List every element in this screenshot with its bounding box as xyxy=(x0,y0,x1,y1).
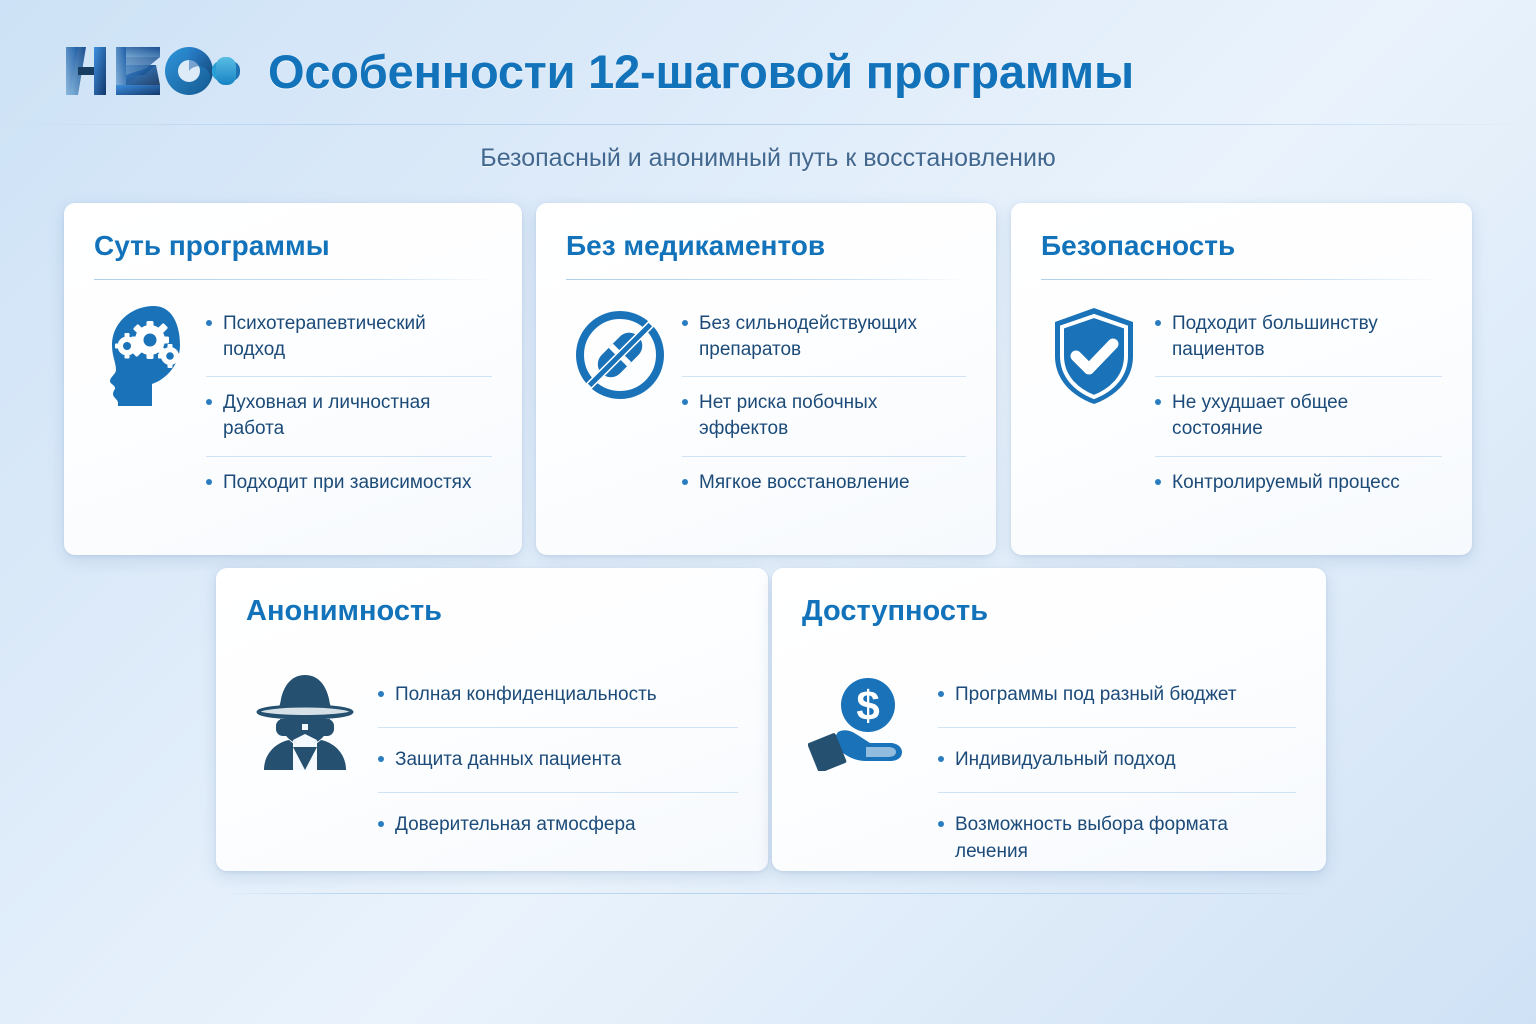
bullet-dot-icon xyxy=(682,320,688,326)
svg-text:$: $ xyxy=(856,682,879,729)
bullet-dot-icon xyxy=(378,756,384,762)
bullet-item: Контролируемый процесс xyxy=(1155,457,1442,509)
bullet-item: Без сильнодействующих препаратов xyxy=(682,298,966,377)
bullet-item: Нет риска побочных эффектов xyxy=(682,377,966,456)
card-body: $ Программы под разный бюджет Индивидуал… xyxy=(802,663,1296,884)
bullet-item: Подходит большинству пациентов xyxy=(1155,298,1442,377)
feature-card-safety[interactable]: Безопасность Подходит большинству пациен… xyxy=(1011,203,1472,555)
bullet-text: Без сильнодействующих препаратов xyxy=(699,311,966,363)
bullet-text: Возможность выбора формата лечения xyxy=(955,812,1296,864)
card-body: Без сильнодействующих препаратов Нет рис… xyxy=(566,298,966,535)
bullet-dot-icon xyxy=(1155,320,1161,326)
card-body: Психотерапевтический подход Духовная и л… xyxy=(94,298,492,535)
bullet-item: Возможность выбора формата лечения xyxy=(938,793,1296,883)
page-header: Особенности 12-шаговой программы xyxy=(0,0,1536,128)
card-title: Безопасность xyxy=(1041,231,1442,262)
incognito-spy-icon xyxy=(246,663,364,775)
card-bullet-list: Полная конфиденциальность Защита данных … xyxy=(378,663,738,858)
bullet-item: Доверительная атмосфера xyxy=(378,793,738,857)
bullet-dot-icon xyxy=(682,479,688,485)
feature-card-anonymity[interactable]: Анонимность Полная конфиденциальность xyxy=(216,568,768,871)
shield-check-icon xyxy=(1041,298,1147,406)
card-body: Подходит большинству пациентов Не ухудша… xyxy=(1041,298,1442,535)
bullet-dot-icon xyxy=(378,691,384,697)
hand-holding-dollar-icon: $ xyxy=(802,663,924,771)
card-title: Без медикаментов xyxy=(566,231,966,262)
bullet-text: Подходит большинству пациентов xyxy=(1172,311,1442,363)
bullet-dot-icon xyxy=(938,821,944,827)
bullet-item: Не ухудшает общее состояние xyxy=(1155,377,1442,456)
bullet-text: Индивидуальный подход xyxy=(955,747,1296,773)
bullet-dot-icon xyxy=(378,821,384,827)
card-title: Суть программы xyxy=(94,231,492,262)
card-bullet-list: Без сильнодействующих препаратов Нет рис… xyxy=(682,298,966,509)
bullet-text: Полная конфиденциальность xyxy=(395,682,738,708)
bullet-item: Подходит при зависимостях xyxy=(206,457,492,509)
bullet-text: Нет риска побочных эффектов xyxy=(699,390,966,442)
bullet-dot-icon xyxy=(1155,479,1161,485)
bullet-text: Контролируемый процесс xyxy=(1172,470,1442,496)
bullet-item: Программы под разный бюджет xyxy=(938,663,1296,728)
bullet-dot-icon xyxy=(206,399,212,405)
bullet-text: Программы под разный бюджет xyxy=(955,682,1296,708)
card-title: Анонимность xyxy=(246,596,738,628)
bullet-text: Психотерапевтический подход xyxy=(223,311,492,363)
bullet-item: Духовная и личностная работа xyxy=(206,377,492,456)
card-bullet-list: Программы под разный бюджет Индивидуальн… xyxy=(938,663,1296,884)
bullet-dot-icon xyxy=(206,320,212,326)
bullet-item: Полная конфиденциальность xyxy=(378,663,738,728)
page-subtitle: Безопасный и анонимный путь к восстановл… xyxy=(0,144,1536,173)
card-bullet-list: Подходит большинству пациентов Не ухудша… xyxy=(1155,298,1442,509)
feature-card-no-medication[interactable]: Без медикаментов Без сильнодействующих п… xyxy=(536,203,996,555)
bullet-text: Подходит при зависимостях xyxy=(223,470,492,496)
card-title-divider xyxy=(566,279,966,280)
feature-card-affordability[interactable]: Доступность $ Программы под разный бюдже… xyxy=(772,568,1326,871)
bullet-dot-icon xyxy=(206,479,212,485)
footer-divider xyxy=(216,893,1326,894)
neo-plus-logo xyxy=(64,42,242,100)
bullet-dot-icon xyxy=(1155,399,1161,405)
no-pills-icon xyxy=(566,298,674,402)
bullet-text: Мягкое восстановление xyxy=(699,470,966,496)
bullet-text: Не ухудшает общее состояние xyxy=(1172,390,1442,442)
header-divider xyxy=(0,124,1536,125)
bullet-text: Духовная и личностная работа xyxy=(223,390,492,442)
card-bullet-list: Психотерапевтический подход Духовная и л… xyxy=(206,298,492,509)
card-title: Доступность xyxy=(802,596,1296,628)
bullet-item: Индивидуальный подход xyxy=(938,728,1296,793)
card-title-divider xyxy=(94,279,492,280)
header-inner: Особенности 12-шаговой программы xyxy=(64,42,1134,100)
bullet-item: Мягкое восстановление xyxy=(682,457,966,509)
bullet-dot-icon xyxy=(938,691,944,697)
feature-card-program-essence[interactable]: Суть программы xyxy=(64,203,522,555)
bullet-dot-icon xyxy=(938,756,944,762)
card-body: Полная конфиденциальность Защита данных … xyxy=(246,663,738,858)
page-title: Особенности 12-шаговой программы xyxy=(268,44,1134,99)
head-with-gears-icon xyxy=(94,298,198,408)
bullet-dot-icon xyxy=(682,399,688,405)
bullet-item: Защита данных пациента xyxy=(378,728,738,793)
bullet-text: Доверительная атмосфера xyxy=(395,812,738,838)
bullet-item: Психотерапевтический подход xyxy=(206,298,492,377)
bullet-text: Защита данных пациента xyxy=(395,747,738,773)
card-title-divider xyxy=(1041,279,1442,280)
